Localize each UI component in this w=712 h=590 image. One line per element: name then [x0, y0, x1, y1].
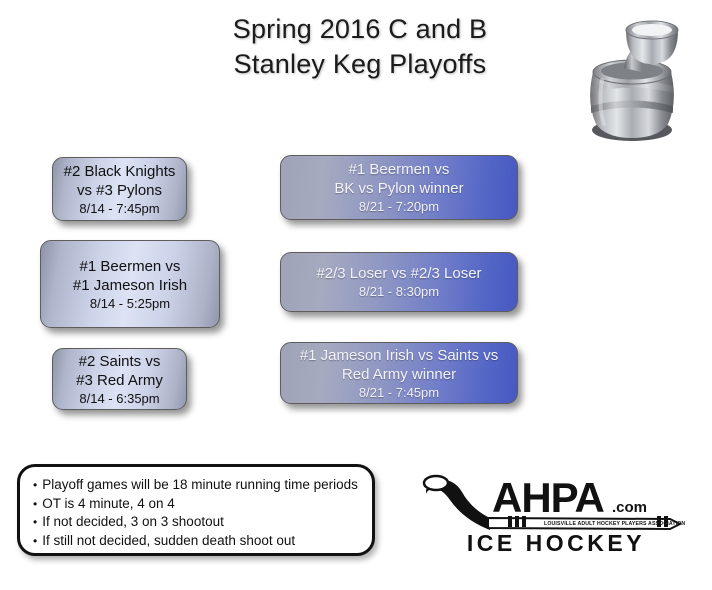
page-title: Spring 2016 C and B Stanley Keg Playoffs [120, 12, 600, 82]
logo-tagline: ICE HOCKEY [414, 530, 698, 557]
bracket-game-r1-3[interactable]: #2 Saints vs #3 Red Army 8/14 - 6:35pm [52, 348, 187, 410]
bracket-game-r1-1[interactable]: #2 Black Knights vs #3 Pylons 8/14 - 7:4… [52, 157, 187, 221]
game-datetime: 8/14 - 5:25pm [90, 295, 170, 312]
logo-wordmark: AHPA [492, 474, 605, 521]
ahpa-logo: LOUISVILLE ADULT HOCKEY PLAYERS ASSOCIAT… [414, 468, 698, 568]
bracket-game-r2-2[interactable]: #2/3 Loser vs #2/3 Loser 8/21 - 8:30pm [280, 252, 518, 312]
bracket-game-r2-3[interactable]: #1 Jameson Irish vs Saints vs Red Army w… [280, 342, 518, 404]
bracket-game-r1-2[interactable]: #1 Beermen vs #1 Jameson Irish 8/14 - 5:… [40, 240, 220, 328]
game-datetime: 8/14 - 6:35pm [79, 390, 159, 407]
game-line-1: #2 Black Knights [64, 162, 176, 181]
logo-domain: .com [612, 499, 647, 516]
game-datetime: 8/21 - 8:30pm [359, 283, 439, 300]
game-line-2: vs #3 Pylons [77, 181, 162, 200]
playoff-bracket-page: Spring 2016 C and B Stanley Keg Playoffs [0, 0, 712, 590]
game-line-2: #1 Jameson Irish [73, 276, 187, 295]
game-line-1: #1 Beermen vs [349, 160, 450, 179]
title-line-1: Spring 2016 C and B [120, 12, 600, 47]
game-line-1: #2 Saints vs [79, 352, 161, 371]
game-datetime: 8/21 - 7:45pm [359, 384, 439, 401]
playoff-rules-box: Playoff games will be 18 minute running … [17, 464, 375, 556]
bracket-game-r2-1[interactable]: #1 Beermen vs BK vs Pylon winner 8/21 - … [280, 155, 518, 220]
rule-item: Playoff games will be 18 minute running … [33, 476, 360, 495]
game-line-2: BK vs Pylon winner [334, 179, 463, 198]
logo-shaft-text: LOUISVILLE ADULT HOCKEY PLAYERS ASSOCIAT… [544, 521, 685, 527]
game-line-1: #2/3 Loser vs #2/3 Loser [316, 264, 481, 283]
rule-item: If still not decided, sudden death shoot… [33, 532, 360, 551]
title-line-2: Stanley Keg Playoffs [120, 47, 600, 82]
ahpa-hockey-stick-icon: LOUISVILLE ADULT HOCKEY PLAYERS ASSOCIAT… [414, 468, 698, 536]
game-datetime: 8/14 - 7:45pm [79, 200, 159, 217]
rule-item: OT is 4 minute, 4 on 4 [33, 495, 360, 514]
game-line-1: #1 Jameson Irish vs Saints vs [300, 346, 498, 365]
game-datetime: 8/21 - 7:20pm [359, 198, 439, 215]
game-line-2: #3 Red Army [76, 371, 163, 390]
rules-list: Playoff games will be 18 minute running … [33, 476, 360, 550]
rule-item: If not decided, 3 on 3 shootout [33, 513, 360, 532]
game-line-1: #1 Beermen vs [80, 257, 181, 276]
game-line-2: Red Army winner [342, 365, 456, 384]
stanley-keg-trophy-icon [566, 2, 706, 147]
